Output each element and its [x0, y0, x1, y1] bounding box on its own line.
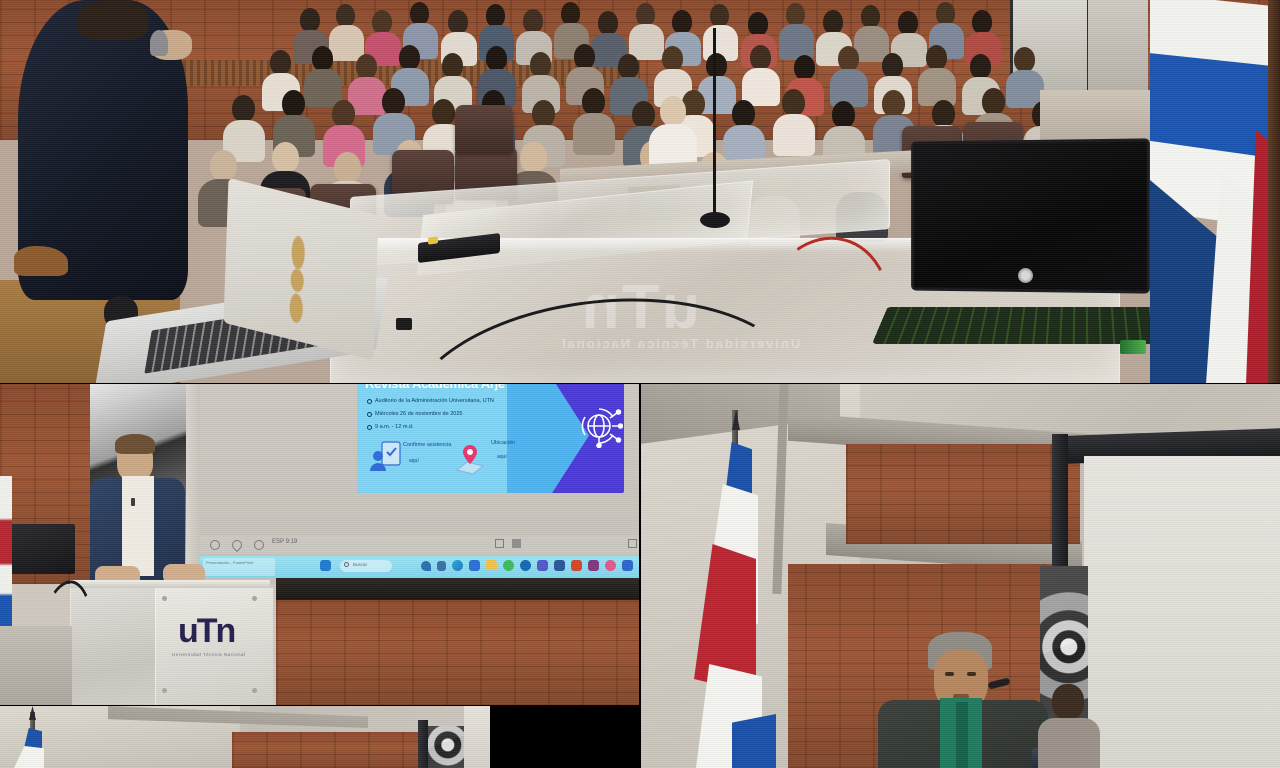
presenter-shirt [122, 476, 154, 576]
podium-screw [162, 596, 167, 601]
slide-bullet-text: Miércoles 26 de noviembre de 2025 [375, 411, 462, 417]
laptop-hp-keyboard[interactable] [872, 307, 1170, 344]
photos-icon[interactable] [605, 560, 616, 571]
screen-bottom-frame [276, 578, 640, 600]
toolbar-more-icon[interactable] [628, 539, 637, 548]
presentation-toolbar [200, 536, 640, 554]
file-explorer-icon[interactable] [486, 560, 497, 570]
background-person-body [1038, 718, 1100, 768]
podium-top-edge [70, 580, 270, 588]
whatsapp-icon[interactable] [503, 560, 514, 571]
slide-bullet-1: Miércoles 26 de noviembre de 2025 [367, 411, 462, 417]
floor-left [0, 626, 72, 706]
steel-frame-strip [418, 720, 428, 768]
hp-logo-icon [1018, 268, 1033, 283]
person-check-icon [369, 440, 403, 474]
lapel-microphone-icon [131, 498, 135, 506]
windows-start-icon[interactable] [320, 560, 331, 571]
laptop-hp-screen[interactable] [914, 141, 1147, 290]
recorder-icon[interactable] [437, 561, 446, 571]
speaker-shoe [14, 246, 68, 276]
slide-bullet-2: 9 a.m. - 12 m.d. [367, 424, 414, 430]
podium-screw [252, 688, 257, 693]
slide-icon-label-1: Ubicación [491, 440, 515, 446]
panel-auditorium-wall-strip [0, 706, 490, 768]
clicker-button [428, 236, 438, 244]
utn-logo-text: uTn [178, 612, 234, 651]
powerpoint-icon[interactable] [571, 560, 582, 571]
slide-bullet-0: Auditorio de la Administración Universit… [367, 398, 494, 404]
edge-browser-icon[interactable] [452, 560, 463, 571]
podium-screw [162, 688, 167, 693]
podium-screw [252, 596, 257, 601]
speaker-eye-left [945, 672, 954, 676]
toolbar-tray-text: ESP 9:19 [272, 539, 297, 545]
panel-auditorium-audience-podium: uTn Universidad Técnica Nacional [0, 0, 1280, 384]
background-person-head [1052, 684, 1084, 720]
cable-connector [396, 318, 412, 330]
brick-wall-strip [232, 732, 422, 768]
utn-logo-subtitle: Universidad Técnica Nacional [172, 652, 245, 657]
search-icon [344, 562, 349, 567]
teams-icon[interactable] [537, 560, 548, 571]
phone-link-icon[interactable] [421, 561, 431, 571]
store-icon[interactable] [469, 560, 480, 571]
theater-seat [455, 105, 513, 153]
toolbar-info-icon[interactable] [254, 540, 264, 550]
speaker-tie [956, 702, 968, 768]
flag-sliver [0, 476, 12, 626]
taskbar-window-title: Presentación - PowerPoint [206, 560, 268, 565]
presenter-hair [115, 434, 155, 454]
white-wall-strip [464, 706, 490, 768]
costa-rica-flag [1150, 0, 1280, 384]
slide-title: Revista Académica Arje [365, 384, 505, 391]
projected-slide: Revista Académica Arje Auditorio de la A… [357, 384, 624, 493]
outlook-icon[interactable] [520, 560, 531, 571]
microphone-icon [150, 30, 168, 56]
toolbar-crop-icon[interactable] [495, 539, 504, 548]
nvidia-sticker [1120, 340, 1146, 354]
search-placeholder: Buscar [353, 562, 367, 567]
toolbar-share-icon[interactable] [512, 539, 521, 548]
slide-icon-sub-0: aquí [409, 458, 419, 464]
settings-icon[interactable] [622, 560, 633, 571]
microphone-base [700, 212, 730, 228]
audio-speaker-box [10, 524, 75, 574]
slide-icon-label-0: Confirme asistencia [403, 442, 451, 448]
map-pin-icon [453, 442, 487, 476]
bullet-dot-icon [367, 399, 372, 404]
bullet-dot-icon [367, 412, 372, 417]
word-icon[interactable] [554, 560, 565, 571]
brick-wall-lower [276, 594, 640, 706]
speaker-eye-right [967, 672, 976, 676]
toolbar-comment-icon[interactable] [210, 540, 220, 550]
bullet-dot-icon [367, 425, 372, 430]
slide-bullet-text: Auditorio de la Administración Universit… [375, 398, 494, 404]
empty-fill [490, 706, 640, 768]
photo-collage: uTn Universidad Técnica Nacional [0, 0, 1280, 768]
brick-wall-upper [846, 444, 1080, 544]
speaker-head [78, 0, 148, 40]
slide-icon-sub-1: aquí [497, 454, 507, 460]
slide-bullet-text: 9 a.m. - 12 m.d. [375, 424, 414, 430]
microphone-stand [713, 28, 716, 220]
onenote-icon[interactable] [588, 560, 599, 571]
panel-presenter-with-projection: Revista Académica Arje Auditorio de la A… [0, 384, 640, 706]
panel-speaker-at-lectern [640, 384, 1280, 768]
laptop-lid-sticker [260, 222, 334, 350]
bw-poster-strip-artwork [428, 726, 464, 768]
white-wall-right [1084, 456, 1280, 768]
gear-network-icon [579, 404, 623, 448]
